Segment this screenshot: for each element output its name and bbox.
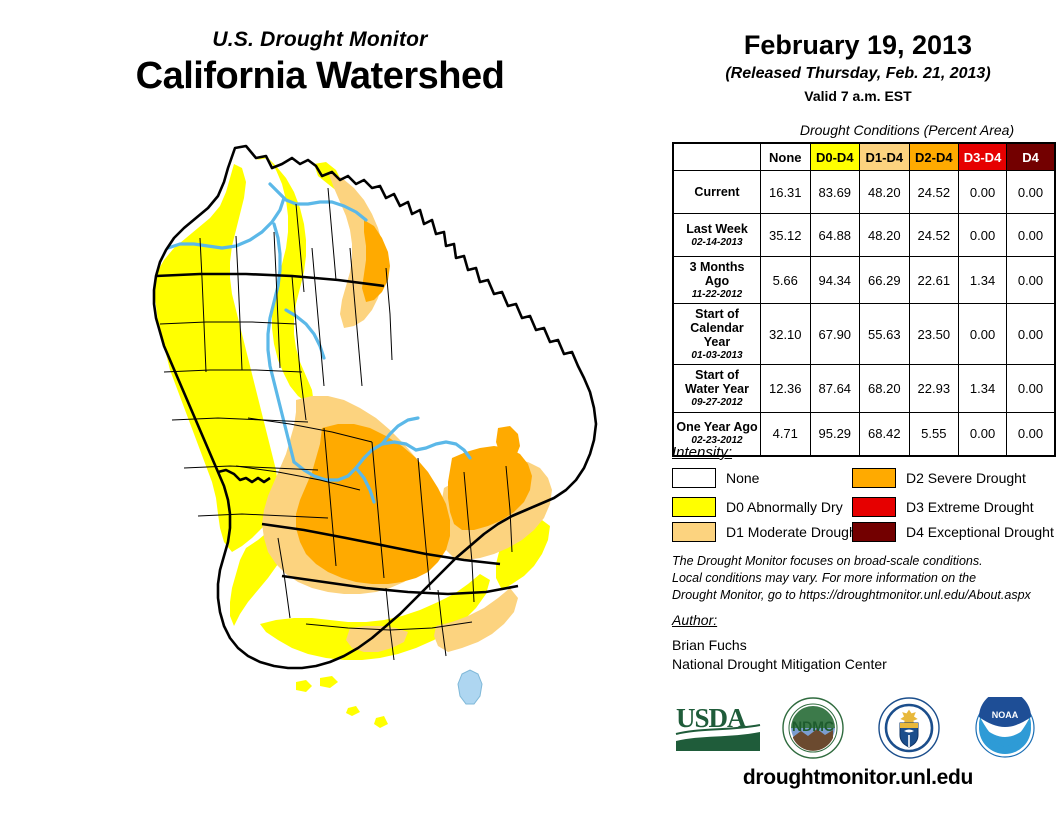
legend-label: D3 Extreme Drought bbox=[906, 499, 1034, 515]
table-cell: 66.29 bbox=[860, 257, 910, 304]
legend-swatch bbox=[852, 497, 896, 517]
table-cell: 4.71 bbox=[761, 412, 811, 456]
table-col-header-none: None bbox=[761, 143, 811, 171]
legend-item: None bbox=[672, 468, 759, 488]
table-row-label: 3 Months Ago11-22-2012 bbox=[673, 257, 761, 304]
table-cell: 32.10 bbox=[761, 304, 811, 365]
table-cell: 22.93 bbox=[909, 365, 959, 412]
site-url[interactable]: droughtmonitor.unl.edu bbox=[660, 766, 1056, 790]
table-row-date: 02-14-2013 bbox=[676, 237, 758, 248]
table-cell: 83.69 bbox=[810, 171, 860, 214]
table-cell: 48.20 bbox=[860, 214, 910, 257]
legend-item: D2 Severe Drought bbox=[852, 468, 1026, 488]
page-title: California Watershed bbox=[0, 55, 640, 98]
legend-swatch bbox=[852, 522, 896, 542]
table-header-row: NoneD0-D4D1-D4D2-D4D3-D4D4 bbox=[673, 143, 1055, 171]
usdc-seal-logo[interactable] bbox=[878, 697, 940, 764]
table-row-label: Current bbox=[673, 171, 761, 214]
noaa-logo[interactable]: NOAA bbox=[974, 697, 1036, 764]
disclaimer-line-3: Drought Monitor, go to https://droughtmo… bbox=[672, 587, 1052, 604]
table-cell: 0.00 bbox=[959, 412, 1007, 456]
report-date: February 19, 2013 bbox=[660, 30, 1056, 61]
table-head: NoneD0-D4D1-D4D2-D4D3-D4D4 bbox=[673, 143, 1055, 171]
table-col-header-d1-d4: D1-D4 bbox=[860, 143, 910, 171]
legend-item: D0 Abnormally Dry bbox=[672, 497, 843, 517]
ndmc-logo[interactable]: NDMC bbox=[782, 697, 844, 764]
table-cell: 55.63 bbox=[860, 304, 910, 365]
disclaimer: The Drought Monitor focuses on broad-sca… bbox=[672, 553, 1052, 604]
table-cell: 16.31 bbox=[761, 171, 811, 214]
salton-sea-lake bbox=[458, 670, 482, 704]
usda-logo[interactable]: USDA bbox=[672, 701, 764, 762]
table-cell: 23.50 bbox=[909, 304, 959, 365]
table-row-label: Start ofCalendar Year01-03-2013 bbox=[673, 304, 761, 365]
legend-label: D0 Abnormally Dry bbox=[726, 499, 843, 515]
table-caption: Drought Conditions (Percent Area) bbox=[762, 122, 1052, 138]
table-body: Current16.3183.6948.2024.520.000.00Last … bbox=[673, 171, 1055, 456]
svg-text:NDMC: NDMC bbox=[792, 718, 834, 734]
title-block: U.S. Drought Monitor California Watershe… bbox=[0, 28, 640, 98]
table-cell: 5.66 bbox=[761, 257, 811, 304]
table-cell: 0.00 bbox=[1007, 304, 1056, 365]
legend-title: Intensity: bbox=[672, 444, 732, 461]
table-row: Last Week02-14-201335.1264.8848.2024.520… bbox=[673, 214, 1055, 257]
table-col-header-d2-d4: D2-D4 bbox=[909, 143, 959, 171]
table-row-label: Last Week02-14-2013 bbox=[673, 214, 761, 257]
drought-map[interactable] bbox=[60, 128, 640, 798]
table-cell: 35.12 bbox=[761, 214, 811, 257]
table-cell: 68.20 bbox=[860, 365, 910, 412]
svg-text:NOAA: NOAA bbox=[992, 710, 1019, 720]
supertitle: U.S. Drought Monitor bbox=[0, 28, 640, 52]
legend-item: D4 Exceptional Drought bbox=[852, 522, 1054, 542]
table-col-header-d0-d4: D0-D4 bbox=[810, 143, 860, 171]
table-col-header-d4: D4 bbox=[1007, 143, 1056, 171]
legend-item: D3 Extreme Drought bbox=[852, 497, 1034, 517]
table-cell: 0.00 bbox=[959, 304, 1007, 365]
table-cell: 0.00 bbox=[1007, 214, 1056, 257]
table-cell: 24.52 bbox=[909, 214, 959, 257]
table-cell: 0.00 bbox=[1007, 257, 1056, 304]
table-cell: 67.90 bbox=[810, 304, 860, 365]
table-cell: 94.34 bbox=[810, 257, 860, 304]
table-cell: 64.88 bbox=[810, 214, 860, 257]
table-cell: 1.34 bbox=[959, 257, 1007, 304]
legend-item: D1 Moderate Drought bbox=[672, 522, 861, 542]
table-row: Start ofCalendar Year01-03-201332.1067.9… bbox=[673, 304, 1055, 365]
valid-time: Valid 7 a.m. EST bbox=[660, 88, 1056, 104]
table-cell: 95.29 bbox=[810, 412, 860, 456]
disclaimer-line-2: Local conditions may vary. For more info… bbox=[672, 570, 1052, 587]
table-cell: 0.00 bbox=[1007, 171, 1056, 214]
table-row-date: 11-22-2012 bbox=[676, 289, 758, 300]
table-cell: 5.55 bbox=[909, 412, 959, 456]
table-row: Current16.3183.6948.2024.520.000.00 bbox=[673, 171, 1055, 214]
legend-swatch bbox=[672, 468, 716, 488]
map-lakes bbox=[458, 670, 482, 704]
author-label: Author: bbox=[672, 612, 717, 628]
table-cell: 1.34 bbox=[959, 365, 1007, 412]
author-organization: National Drought Mitigation Center bbox=[672, 656, 887, 672]
author-name: Brian Fuchs bbox=[672, 637, 747, 653]
legend-label: D4 Exceptional Drought bbox=[906, 524, 1054, 540]
legend-swatch bbox=[852, 468, 896, 488]
table-cell: 0.00 bbox=[959, 171, 1007, 214]
table-cell: 68.42 bbox=[860, 412, 910, 456]
table-row-date: 09-27-2012 bbox=[676, 397, 758, 408]
drought-conditions-table: NoneD0-D4D1-D4D2-D4D3-D4D4 Current16.318… bbox=[672, 142, 1056, 457]
table-cell: 0.00 bbox=[959, 214, 1007, 257]
table-row-label: Start ofWater Year09-27-2012 bbox=[673, 365, 761, 412]
table-cell: 0.00 bbox=[1007, 412, 1056, 456]
map-panel: U.S. Drought Monitor California Watershe… bbox=[0, 0, 660, 816]
table-cell: 0.00 bbox=[1007, 365, 1056, 412]
logo-row: USDA NDMC bbox=[660, 693, 1056, 763]
legend-label: None bbox=[726, 470, 759, 486]
disclaimer-line-1: The Drought Monitor focuses on broad-sca… bbox=[672, 553, 1052, 570]
legend-swatch bbox=[672, 497, 716, 517]
table-cell: 12.36 bbox=[761, 365, 811, 412]
table-cell: 24.52 bbox=[909, 171, 959, 214]
release-date: (Released Thursday, Feb. 21, 2013) bbox=[660, 65, 1056, 83]
legend-label: D2 Severe Drought bbox=[906, 470, 1026, 486]
legend-label: D1 Moderate Drought bbox=[726, 524, 861, 540]
table-cell: 87.64 bbox=[810, 365, 860, 412]
table-cell: 48.20 bbox=[860, 171, 910, 214]
table-col-header-d3-d4: D3-D4 bbox=[959, 143, 1007, 171]
table-cell: 22.61 bbox=[909, 257, 959, 304]
info-panel: February 19, 2013 (Released Thursday, Fe… bbox=[660, 0, 1056, 816]
table-row: Start ofWater Year09-27-201212.3687.6468… bbox=[673, 365, 1055, 412]
legend-swatch bbox=[672, 522, 716, 542]
table-corner-cell bbox=[673, 143, 761, 171]
table-row-date: 01-03-2013 bbox=[676, 350, 758, 361]
table-row: 3 Months Ago11-22-20125.6694.3466.2922.6… bbox=[673, 257, 1055, 304]
